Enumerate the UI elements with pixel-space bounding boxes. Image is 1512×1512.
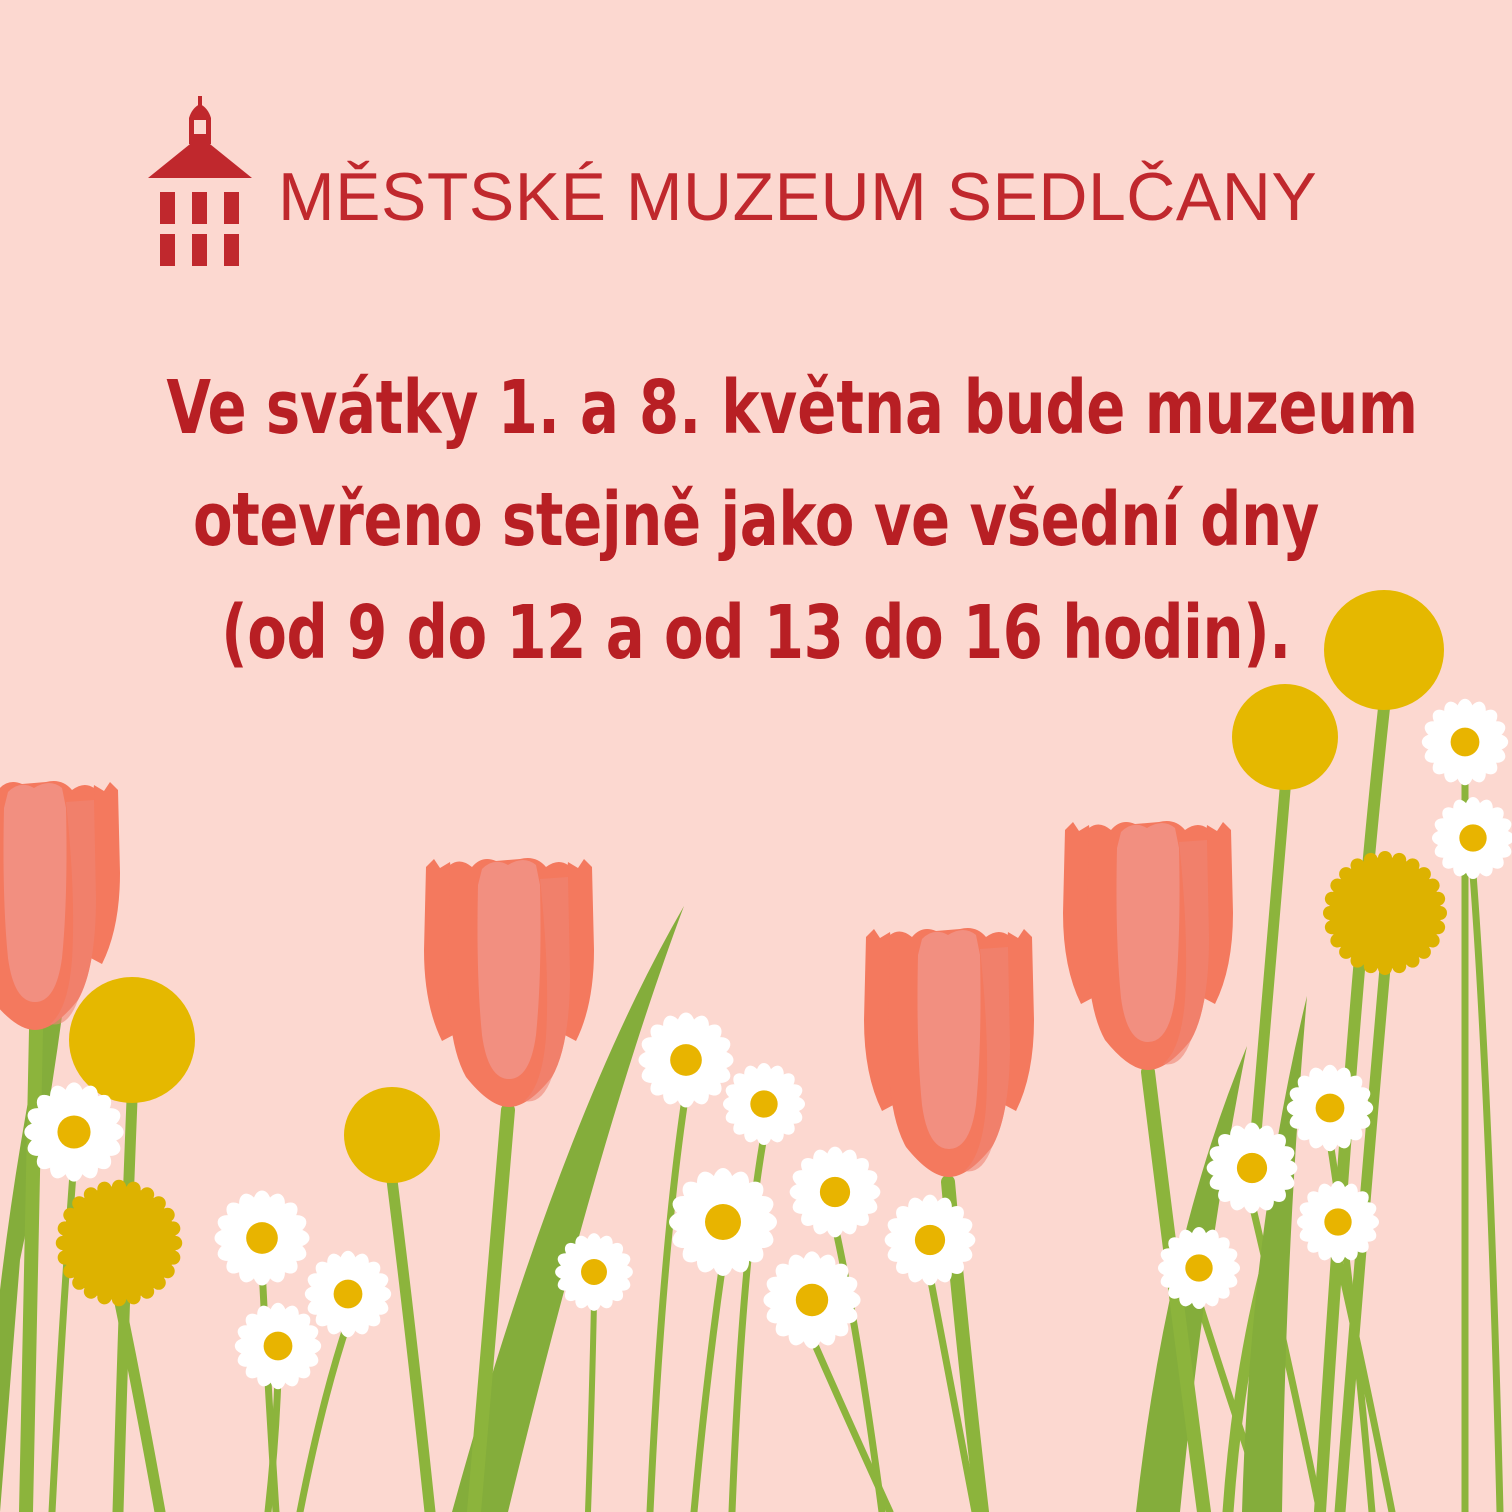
- museum-building-icon: [148, 96, 252, 282]
- daisy-6: [723, 1063, 805, 1145]
- billy-buttons: [56, 590, 1447, 1306]
- daisy-3: [305, 1251, 391, 1337]
- daisy-9: [790, 1147, 881, 1238]
- billy-button-1: [69, 977, 195, 1103]
- daisies: [24, 699, 1512, 1389]
- daisy-13: [1207, 1123, 1298, 1214]
- billy-button-4: [1232, 684, 1338, 790]
- billy-button-2: [344, 1087, 440, 1183]
- daisy-4: [235, 1303, 321, 1389]
- tulip-right-inner: [864, 928, 1034, 1177]
- tulip-left-edge: [0, 781, 120, 1030]
- daisy-2: [214, 1190, 309, 1285]
- daisy-12: [1287, 1065, 1373, 1151]
- leaves: [0, 880, 1307, 1512]
- daisy-15: [1158, 1227, 1240, 1309]
- announcement-line-1-prefix: Ve svátky: [166, 365, 497, 451]
- tulip-center: [424, 858, 594, 1107]
- daisy-14: [1297, 1181, 1379, 1263]
- daisy-7: [669, 1168, 777, 1276]
- museum-title: MĚSTSKÉ MUZEUM SEDLČANY: [278, 163, 1317, 231]
- billy-button-stems: [118, 708, 1385, 1512]
- tulips: [0, 781, 1233, 1177]
- announcement-line-3: (od 9 do 12 a od 13 do 16 hodin).: [166, 577, 1345, 689]
- daisy-10: [885, 1195, 976, 1286]
- daisy-stems: [52, 782, 1500, 1512]
- billy-button-3: [56, 1180, 182, 1306]
- daisy-8: [555, 1233, 633, 1311]
- daisy-1: [24, 1082, 123, 1181]
- daisy-11: [763, 1251, 860, 1348]
- announcement-dates: 1. a 8. května: [498, 365, 944, 451]
- billy-button-6: [1323, 851, 1447, 975]
- announcement-line-1-suffix: bude muzeum: [944, 365, 1418, 451]
- tulip-stems: [26, 1030, 1204, 1512]
- announcement-text: Ve svátky 1. a 8. května bude muzeum ote…: [166, 352, 1345, 689]
- daisy-16: [1422, 699, 1508, 785]
- announcement-line-1: Ve svátky 1. a 8. května bude muzeum: [166, 352, 1345, 464]
- announcement-line-2: otevřeno stejně jako ve všední dny: [166, 464, 1345, 576]
- daisy-17: [1432, 797, 1512, 879]
- daisy-5: [638, 1012, 733, 1107]
- poster-canvas: MĚSTSKÉ MUZEUM SEDLČANY Ve svátky 1. a 8…: [0, 0, 1512, 1512]
- tulip-right-outer: [1063, 821, 1233, 1070]
- museum-logo-header: MĚSTSKÉ MUZEUM SEDLČANY: [148, 96, 1317, 282]
